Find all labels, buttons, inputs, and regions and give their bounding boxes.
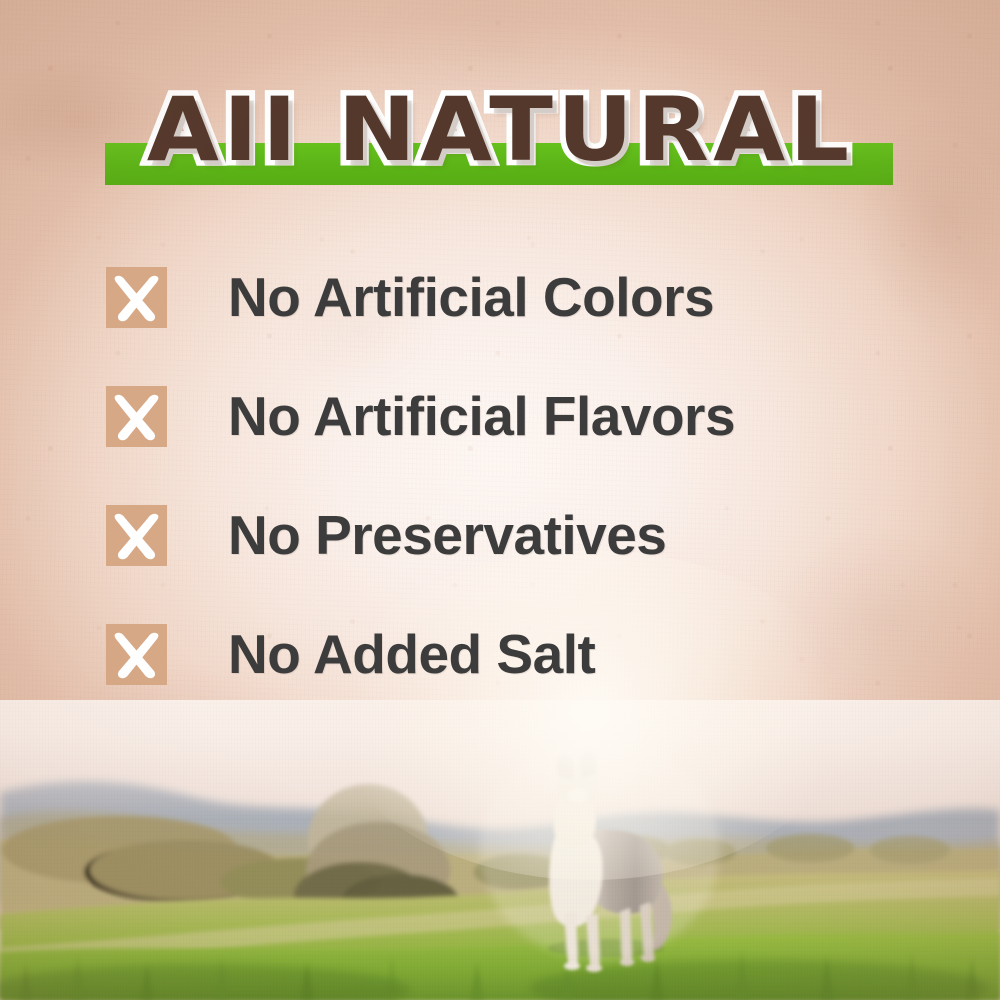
feature-label: No Added Salt [228,624,595,685]
feature-label: No Preservatives [228,505,666,566]
landscape-photo [0,700,1000,1000]
feature-label: No Artificial Flavors [228,386,735,447]
feature-row-no-added-salt: No Added Salt [106,623,926,685]
feature-row-no-artificial-flavors: No Artificial Flavors [106,385,926,447]
headline-banner: AII NATURAL [0,78,1000,190]
landscape-illustration [0,700,1000,1000]
x-mark-icon [106,624,167,685]
x-mark-icon [106,267,167,328]
feature-row-no-artificial-colors: No Artificial Colors [106,266,926,328]
x-mark-icon [106,505,167,566]
headline-title: AII NATURAL [0,78,1000,182]
feature-label: No Artificial Colors [228,267,714,328]
x-mark-icon [106,386,167,447]
feature-list: No Artificial Colors No Artificial Flavo… [106,266,926,685]
feature-row-no-preservatives: No Preservatives [106,504,926,566]
all-natural-feature-poster: AII NATURAL No Artificial Colors No Arti… [0,0,1000,1000]
